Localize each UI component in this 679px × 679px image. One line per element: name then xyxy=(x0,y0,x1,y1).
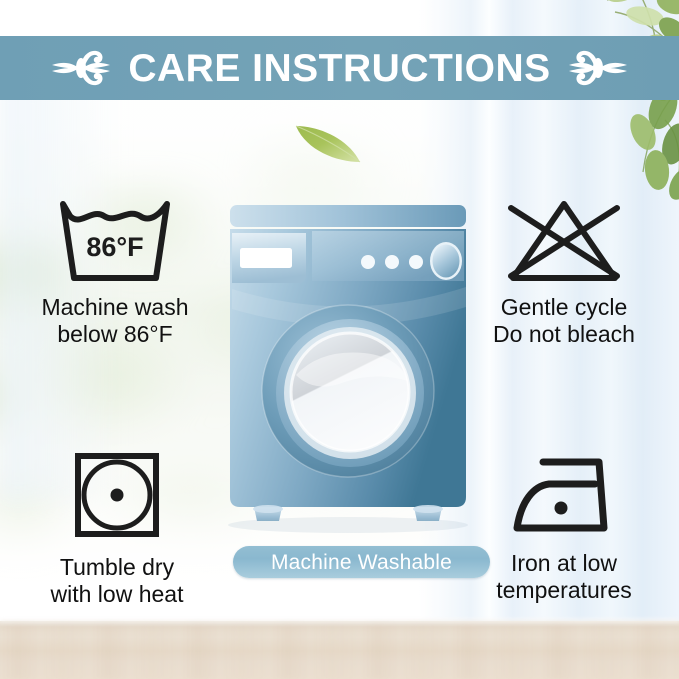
machine-washable-badge[interactable]: Machine Washable xyxy=(233,546,490,578)
washer-button-2[interactable] xyxy=(385,255,399,269)
washer-button-1[interactable] xyxy=(361,255,375,269)
washer-shadow xyxy=(228,517,468,533)
machine-washable-badge-label: Machine Washable xyxy=(271,552,452,573)
washer-top-lid xyxy=(230,205,466,227)
washer-button-3[interactable] xyxy=(409,255,423,269)
background-table-grain xyxy=(0,621,679,679)
header-banner: CARE INSTRUCTIONS xyxy=(0,36,679,100)
fleur-de-lis-right-icon xyxy=(567,45,629,91)
care-symbol-label-iron: Iron at low temperatures xyxy=(496,550,632,604)
triangle-crossed-out-icon xyxy=(503,196,625,286)
wash-tub-icon: 86°F xyxy=(54,196,176,286)
tumble-dry-one-dot-icon xyxy=(65,450,169,546)
wash-temperature-value: 86°F xyxy=(86,232,143,262)
care-symbol-machine-wash: 86°F Machine wash below 86°F xyxy=(0,196,230,348)
care-symbol-tumble-dry: Tumble dry with low heat xyxy=(2,450,232,608)
care-instructions-poster: CARE INSTRUCTIONS 86°F Machine wash belo… xyxy=(0,0,679,679)
care-symbol-do-not-bleach: Gentle cycle Do not bleach xyxy=(449,196,679,348)
washer-dial[interactable] xyxy=(433,245,460,278)
fleur-de-lis-left-icon xyxy=(50,45,112,91)
background-table-edge xyxy=(0,619,679,627)
iron-one-dot-icon xyxy=(503,452,625,542)
page-title: CARE INSTRUCTIONS xyxy=(128,49,550,88)
washer-drawer-handle xyxy=(240,248,292,268)
care-symbol-iron: Iron at low temperatures xyxy=(449,452,679,604)
care-symbol-label-tumble-dry: Tumble dry with low heat xyxy=(51,554,184,608)
washing-machine-illustration xyxy=(224,203,472,543)
care-symbol-label-do-not-bleach: Gentle cycle Do not bleach xyxy=(493,294,635,348)
floating-leaf-icon xyxy=(292,120,364,166)
care-symbol-label-machine-wash: Machine wash below 86°F xyxy=(41,294,188,348)
